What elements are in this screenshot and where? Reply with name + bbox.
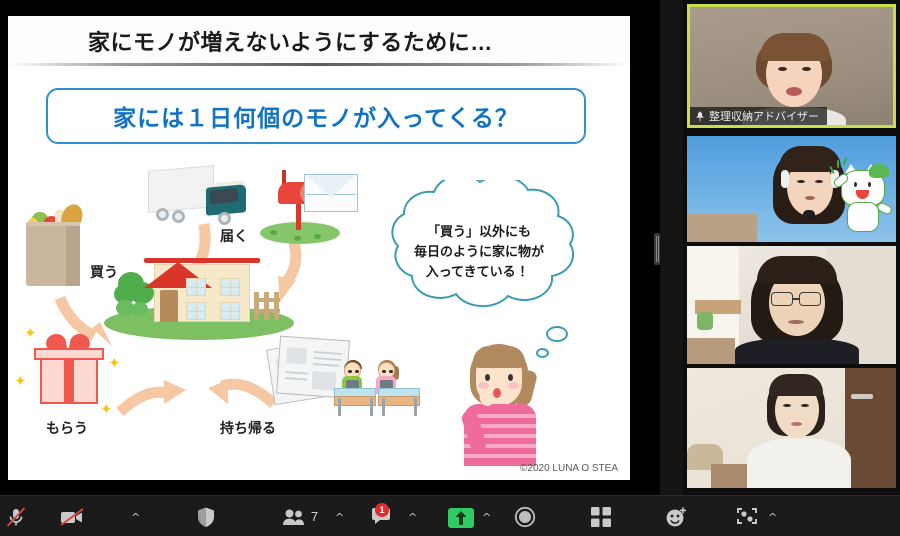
zoom-meeting-window: 家にモノが増えないようにするために… 家には１日何個のモノが入ってくる？ xyxy=(0,0,900,536)
eyeglasses-icon xyxy=(771,292,793,306)
chat-button[interactable]: 1 xyxy=(362,496,402,536)
apps-grid-icon xyxy=(591,507,611,527)
participants-count: 7 xyxy=(311,509,318,524)
sparkle-icon: ✦ xyxy=(24,326,37,341)
reactions-button[interactable] xyxy=(657,496,697,536)
participants-icon xyxy=(282,508,306,526)
title-divider xyxy=(8,63,630,66)
reactions-smiley-icon xyxy=(665,506,689,528)
students-at-desks-illustration xyxy=(334,350,426,422)
breakout-rooms-button[interactable] xyxy=(727,496,767,536)
chat-options-caret[interactable] xyxy=(408,512,417,524)
thought-bubble: 「買う」以外にも 毎日のように家に物が 入ってきている ！ xyxy=(350,180,608,320)
background-door xyxy=(845,368,896,488)
sparkle-icon: ✦ xyxy=(108,356,121,371)
panel-resize-handle[interactable] xyxy=(654,233,660,265)
participant-name-badge: 整理収納アドバイザー xyxy=(690,107,827,125)
video-camera-off-icon xyxy=(59,507,85,527)
slide-header: 家にモノが増えないようにするために… xyxy=(8,16,630,66)
shield-icon xyxy=(196,506,216,528)
flow-diagram: 買う xyxy=(8,146,630,480)
breakout-rooms-icon xyxy=(736,507,758,527)
video-feed xyxy=(687,136,896,242)
microphone-boom xyxy=(803,210,815,219)
label-bring-home: 持ち帰る xyxy=(220,418,276,438)
background-furniture xyxy=(687,214,757,242)
background-plant xyxy=(697,312,713,330)
eyeglasses-bridge xyxy=(793,298,799,300)
participant-name: 整理収納アドバイザー xyxy=(709,108,819,124)
participant-video-strip: 整理収納アドバイザー xyxy=(683,0,900,495)
meeting-toolbar: 7 1 xyxy=(0,495,900,536)
share-screen-up-arrow-icon xyxy=(454,510,468,526)
security-button[interactable] xyxy=(186,496,226,536)
microphone-muted-icon xyxy=(5,506,27,528)
video-tile-participant-4[interactable] xyxy=(687,368,896,488)
gift-box-illustration xyxy=(32,334,106,408)
video-tile-participant-3[interactable] xyxy=(687,246,896,364)
participants-options-caret[interactable] xyxy=(335,512,344,524)
chat-unread-badge: 1 xyxy=(375,503,389,517)
video-tile-participant-2[interactable] xyxy=(687,136,896,242)
slide-title: 家にモノが増えないようにするために… xyxy=(88,25,493,57)
video-feed xyxy=(687,246,896,364)
door-handle xyxy=(851,394,873,399)
slide-copyright: ©2020 LUNA O STEA xyxy=(520,463,618,474)
thought-bubble-text: 「買う」以外にも 毎日のように家に物が 入ってきている ！ xyxy=(350,222,608,282)
pin-icon xyxy=(695,111,705,122)
delivery-truck-illustration xyxy=(148,164,258,226)
bubble-line-3: 入ってきている ！ xyxy=(350,262,608,282)
eyeglasses-icon xyxy=(799,292,821,306)
grocery-bag-illustration xyxy=(22,204,84,286)
bubble-line-2: 毎日のように家に物が xyxy=(350,242,608,262)
house-illustration xyxy=(104,244,294,344)
shared-screen-area[interactable]: 家にモノが増えないようにするために… 家には１日何個のモノが入ってくる？ xyxy=(0,0,660,495)
apps-button[interactable] xyxy=(581,496,621,536)
sparkle-icon: ✦ xyxy=(14,374,27,389)
video-tile-active-speaker[interactable]: 整理収納アドバイザー xyxy=(687,4,896,128)
label-receive: もらう xyxy=(46,418,88,438)
video-feed xyxy=(687,368,896,488)
share-options-caret[interactable] xyxy=(482,512,491,524)
sparkle-icon: ✦ xyxy=(100,402,113,417)
girl-illustration xyxy=(456,338,546,466)
presentation-slide: 家にモノが増えないようにするために… 家には１日何個のモノが入ってくる？ xyxy=(8,16,630,480)
share-screen-button[interactable] xyxy=(448,508,474,528)
record-button[interactable] xyxy=(505,496,545,536)
label-deliver: 届く xyxy=(220,226,248,246)
video-options-caret[interactable] xyxy=(131,512,140,524)
background-table xyxy=(687,338,735,364)
headset-icon xyxy=(781,170,789,188)
breakout-options-caret[interactable] xyxy=(768,512,777,524)
cat-mascot-sticker xyxy=(837,160,893,236)
question-callout-box: 家には１日何個のモノが入ってくる？ xyxy=(46,88,586,144)
question-text: 家には１日何個のモノが入ってくる？ xyxy=(113,99,519,133)
bubble-line-1: 「買う」以外にも xyxy=(350,222,608,242)
record-circle-icon xyxy=(514,506,536,528)
mute-button[interactable] xyxy=(0,496,36,536)
thought-bubble-tail-large xyxy=(546,326,568,342)
participants-button[interactable]: 7 xyxy=(272,496,328,536)
video-button[interactable] xyxy=(52,496,92,536)
